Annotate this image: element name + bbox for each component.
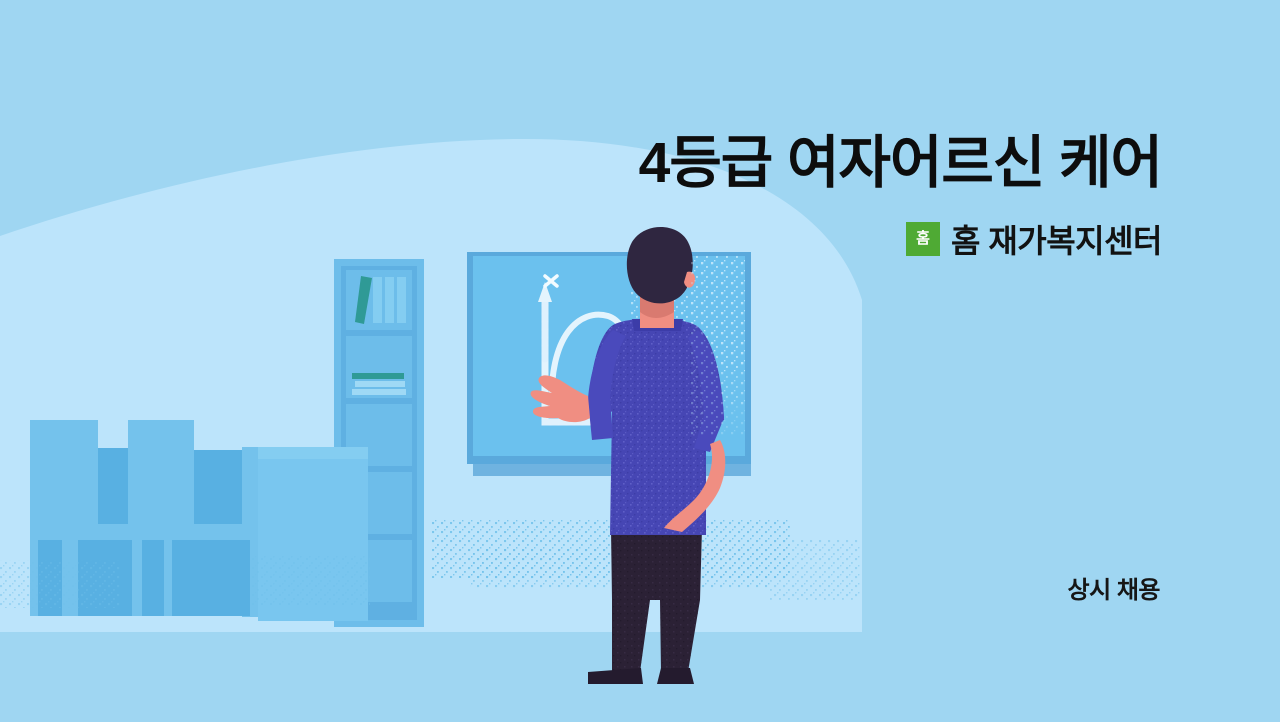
status-badge: 상시 채용 <box>1068 570 1161 605</box>
company-badge-icon: 홈 <box>906 222 940 256</box>
company-row: 홈 홈 재가복지센터 <box>262 216 1162 262</box>
poster-illustration <box>0 0 1280 722</box>
wall-speckle <box>690 256 745 436</box>
poster-text-block: 4등급 여자어르신 케어 홈 홈 재가복지센터 <box>262 132 1162 262</box>
job-posting-poster: 4등급 여자어르신 케어 홈 홈 재가복지센터 상시 채용 <box>0 0 1280 722</box>
company-name: 홈 재가복지센터 <box>951 216 1162 262</box>
shoe-right <box>657 668 694 684</box>
page-title: 4등급 여자어르신 케어 <box>262 132 1162 196</box>
